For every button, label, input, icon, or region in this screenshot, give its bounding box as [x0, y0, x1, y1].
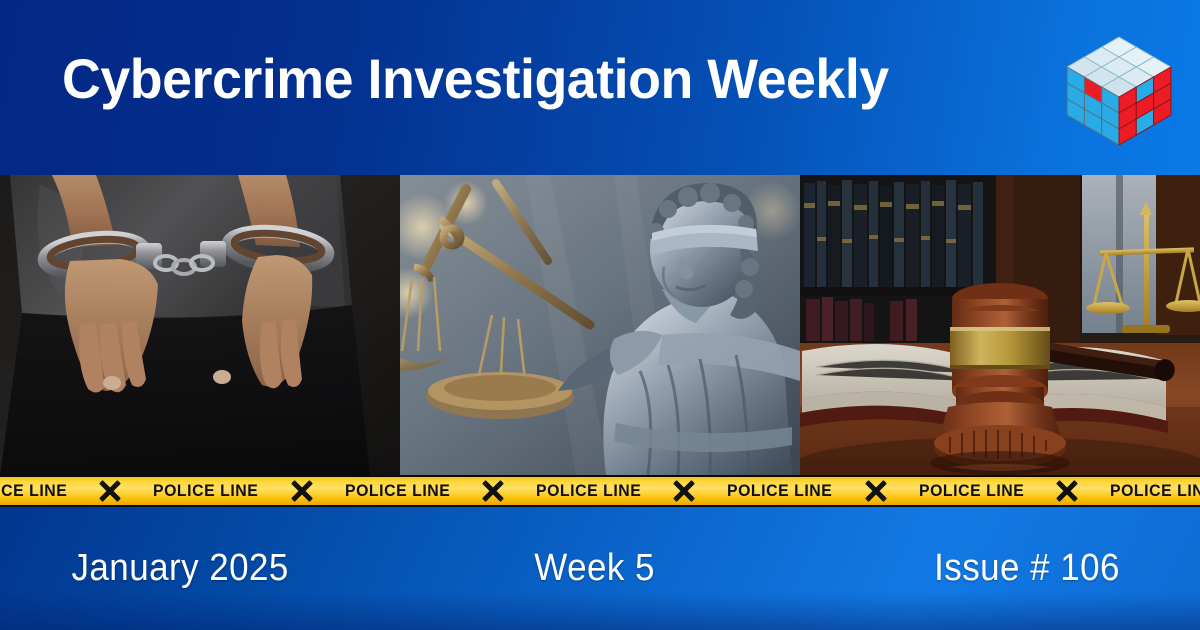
x-cross-icon — [480, 478, 506, 504]
handcuffed-hands-photo — [0, 175, 400, 475]
banner-header: Cybercrime Investigation Weekly — [0, 0, 1200, 175]
issue-week: Week 5 — [535, 547, 656, 590]
page-title: Cybercrime Investigation Weekly — [62, 50, 889, 109]
police-line-label: POLICE LINE — [900, 481, 1043, 501]
x-cross-icon — [97, 478, 123, 504]
x-cross-icon — [289, 478, 315, 504]
police-line-label: POLICE LINE — [135, 481, 278, 501]
issue-number: Issue # 106 — [934, 547, 1120, 590]
lady-justice-image — [400, 175, 800, 475]
issue-week-cell: Week 5 — [417, 507, 772, 630]
x-cross-icon — [671, 478, 697, 504]
issue-month: January 2025 — [71, 547, 288, 590]
gavel-on-desk-photo — [800, 175, 1200, 475]
x-cross-icon — [1054, 478, 1080, 504]
police-line-label: POLICE LINE — [1091, 481, 1200, 501]
photo-strip — [0, 175, 1200, 475]
x-cross-icon — [863, 478, 889, 504]
rubiks-cube-logo — [1060, 33, 1178, 145]
issue-month-cell: January 2025 — [0, 507, 417, 630]
lady-justice-statue-photo — [400, 175, 800, 475]
rubiks-cube-icon — [1060, 33, 1178, 145]
newsletter-banner: Cybercrime Investigation Weekly — [0, 0, 1200, 630]
police-line-label: POLICE LINE — [0, 481, 86, 501]
gavel-image — [800, 175, 1200, 475]
police-line-tape: POLICE LINEPOLICE LINEPOLICE LINEPOLICE … — [0, 475, 1200, 507]
police-line-label: POLICE LINE — [517, 481, 660, 501]
issue-number-cell: Issue # 106 — [773, 507, 1200, 630]
police-tape-repeat-track: POLICE LINEPOLICE LINEPOLICE LINEPOLICE … — [0, 477, 1200, 505]
police-line-label: POLICE LINE — [709, 481, 852, 501]
banner-footer: January 2025 Week 5 Issue # 106 — [0, 507, 1200, 630]
handcuffed-hands-image — [0, 175, 400, 475]
police-line-label: POLICE LINE — [326, 481, 469, 501]
